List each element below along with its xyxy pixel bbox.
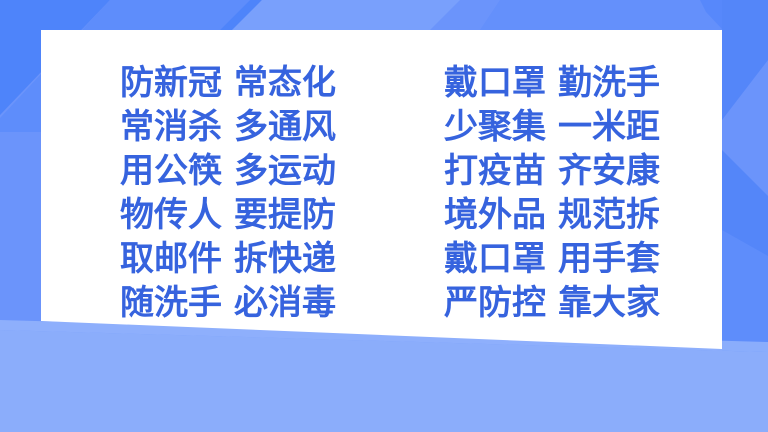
slogan-part-first: 境外品 [444,196,546,234]
slogan-column-left: 防新冠常态化 常消杀多通风 用公筷多运动 物传人要提防 取邮件拆快递 随洗手必消… [120,62,336,324]
slogan-part-first: 随洗手 [120,284,222,322]
slogan-part-second: 靠大家 [558,284,660,322]
slogan-part-second: 多通风 [234,108,336,146]
slogan-part-second: 齐安康 [558,152,660,190]
slogan-part-first: 物传人 [120,196,222,234]
slogan-part-second: 勤洗手 [558,64,660,102]
slogan-line: 防新冠常态化 [120,62,336,104]
slogan-line: 打疫苗齐安康 [444,150,660,192]
slogan-part-second: 拆快递 [234,240,336,278]
slogan-line: 常消杀多通风 [120,106,336,148]
slogan-part-first: 戴口罩 [444,64,546,102]
slogan-part-first: 少聚集 [444,108,546,146]
slogan-part-first: 取邮件 [120,240,222,278]
slogan-part-first: 常消杀 [120,108,222,146]
poster-canvas: 防新冠常态化 常消杀多通风 用公筷多运动 物传人要提防 取邮件拆快递 随洗手必消… [0,0,768,432]
slogan-part-second: 必消毒 [234,284,336,322]
slogan-part-second: 一米距 [558,108,660,146]
slogan-part-first: 戴口罩 [444,240,546,278]
slogan-line: 取邮件拆快递 [120,238,336,280]
slogan-part-second: 要提防 [234,196,336,234]
slogan-part-second: 常态化 [234,64,336,102]
slogan-line: 少聚集一米距 [444,106,660,148]
slogan-line: 物传人要提防 [120,194,336,236]
slogan-part-first: 防新冠 [120,64,222,102]
slogan-column-right: 戴口罩勤洗手 少聚集一米距 打疫苗齐安康 境外品规范拆 戴口罩用手套 严防控靠大… [444,62,660,324]
slogan-line: 戴口罩勤洗手 [444,62,660,104]
slogan-line: 戴口罩用手套 [444,238,660,280]
slogan-line: 随洗手必消毒 [120,282,336,324]
slogan-layer: 防新冠常态化 常消杀多通风 用公筷多运动 物传人要提防 取邮件拆快递 随洗手必消… [0,0,768,432]
slogan-part-first: 打疫苗 [444,152,546,190]
slogan-part-second: 用手套 [558,240,660,278]
slogan-part-first: 严防控 [444,284,546,322]
slogan-line: 境外品规范拆 [444,194,660,236]
slogan-part-second: 规范拆 [558,196,660,234]
slogan-line: 用公筷多运动 [120,150,336,192]
slogan-columns: 防新冠常态化 常消杀多通风 用公筷多运动 物传人要提防 取邮件拆快递 随洗手必消… [120,62,660,324]
slogan-part-second: 多运动 [234,152,336,190]
slogan-part-first: 用公筷 [120,152,222,190]
slogan-line: 严防控靠大家 [444,282,660,324]
